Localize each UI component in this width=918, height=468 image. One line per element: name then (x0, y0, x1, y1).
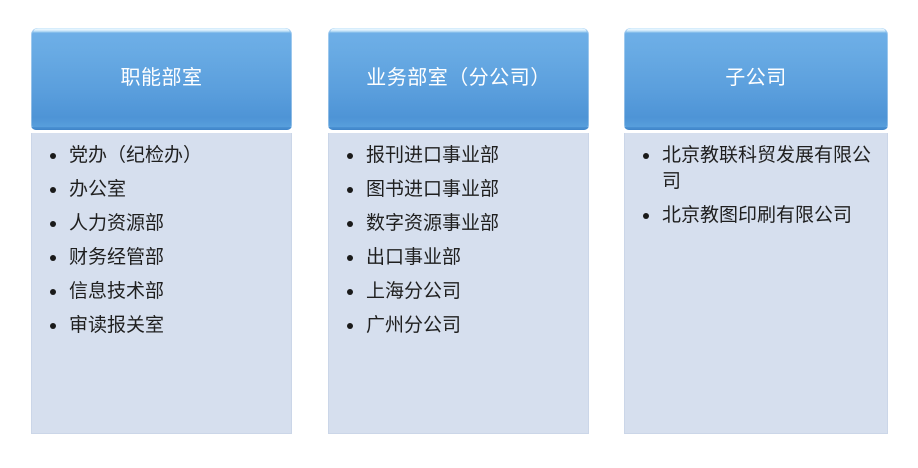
column-body-business-departments: 报刊进口事业部 图书进口事业部 数字资源事业部 出口事业部 上海分公司 (328, 133, 589, 434)
column-header-label: 子公司 (624, 28, 888, 127)
bullet-dot-icon (50, 289, 56, 295)
column-functional-departments: 职能部室 党办（纪检办） 办公室 人力资源部 财务经管部 (31, 28, 292, 434)
list-item-label: 图书进口事业部 (366, 177, 578, 203)
bullet-dot-icon (50, 323, 56, 329)
column-header-functional-departments[interactable]: 职能部室 (31, 28, 292, 130)
column-body-functional-departments: 党办（纪检办） 办公室 人力资源部 财务经管部 信息技术部 (31, 133, 292, 434)
list-item[interactable]: 审读报关室 (42, 313, 281, 339)
bullet-dot-icon (347, 323, 353, 329)
list-item-label: 北京教图印刷有限公司 (662, 203, 877, 229)
list-item[interactable]: 财务经管部 (42, 245, 281, 271)
list-item[interactable]: 党办（纪检办） (42, 143, 281, 169)
bullet-dot-icon (347, 289, 353, 295)
list-item[interactable]: 办公室 (42, 177, 281, 203)
list-item-label: 广州分公司 (366, 313, 578, 339)
list-item-label: 党办（纪检办） (69, 143, 281, 169)
list-item[interactable]: 报刊进口事业部 (339, 143, 578, 169)
column-header-label: 业务部室（分公司） (328, 28, 589, 127)
list-item-label: 报刊进口事业部 (366, 143, 578, 169)
list-item[interactable]: 信息技术部 (42, 279, 281, 305)
list-item-label: 北京教联科贸发展有限公司 (662, 143, 877, 195)
bullet-dot-icon (643, 153, 649, 159)
item-list: 党办（纪检办） 办公室 人力资源部 财务经管部 信息技术部 (42, 143, 281, 339)
bullet-dot-icon (347, 153, 353, 159)
org-structure-diagram: 职能部室 党办（纪检办） 办公室 人力资源部 财务经管部 (0, 0, 918, 468)
column-body-subsidiaries: 北京教联科贸发展有限公司 北京教图印刷有限公司 (624, 133, 888, 434)
list-item[interactable]: 北京教联科贸发展有限公司 (635, 143, 877, 195)
bullet-dot-icon (50, 255, 56, 261)
list-item[interactable]: 出口事业部 (339, 245, 578, 271)
list-item-label: 信息技术部 (69, 279, 281, 305)
list-item-label: 出口事业部 (366, 245, 578, 271)
list-item-label: 上海分公司 (366, 279, 578, 305)
list-item-label: 办公室 (69, 177, 281, 203)
list-item-label: 数字资源事业部 (366, 211, 578, 237)
item-list: 报刊进口事业部 图书进口事业部 数字资源事业部 出口事业部 上海分公司 (339, 143, 578, 339)
list-item[interactable]: 上海分公司 (339, 279, 578, 305)
bullet-dot-icon (347, 187, 353, 193)
list-item-label: 人力资源部 (69, 211, 281, 237)
column-header-business-departments[interactable]: 业务部室（分公司） (328, 28, 589, 130)
list-item[interactable]: 数字资源事业部 (339, 211, 578, 237)
column-header-label: 职能部室 (31, 28, 292, 127)
list-item-label: 财务经管部 (69, 245, 281, 271)
column-header-subsidiaries[interactable]: 子公司 (624, 28, 888, 130)
list-item[interactable]: 图书进口事业部 (339, 177, 578, 203)
list-item[interactable]: 北京教图印刷有限公司 (635, 203, 877, 229)
bullet-dot-icon (643, 213, 649, 219)
list-item-label: 审读报关室 (69, 313, 281, 339)
item-list: 北京教联科贸发展有限公司 北京教图印刷有限公司 (635, 143, 877, 229)
list-item[interactable]: 广州分公司 (339, 313, 578, 339)
bullet-dot-icon (347, 221, 353, 227)
bullet-dot-icon (50, 221, 56, 227)
list-item[interactable]: 人力资源部 (42, 211, 281, 237)
bullet-dot-icon (347, 255, 353, 261)
column-subsidiaries: 子公司 北京教联科贸发展有限公司 北京教图印刷有限公司 (624, 28, 888, 434)
bullet-dot-icon (50, 187, 56, 193)
bullet-dot-icon (50, 153, 56, 159)
column-business-departments: 业务部室（分公司） 报刊进口事业部 图书进口事业部 数字资源事业部 出口 (328, 28, 589, 434)
